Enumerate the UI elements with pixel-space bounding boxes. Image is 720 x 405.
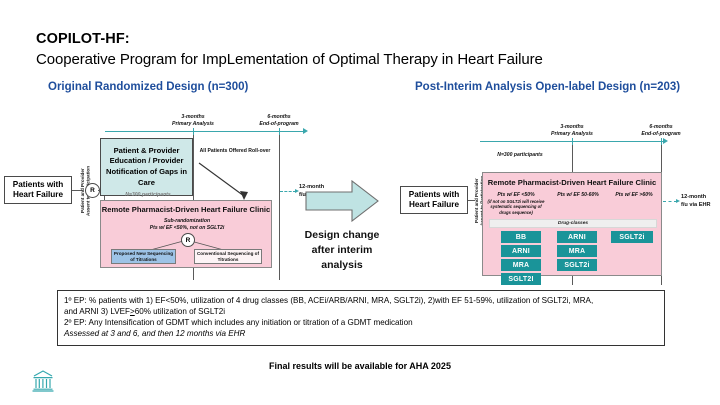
left-timeline-tick-6mo xyxy=(279,128,280,135)
left-randomization-node-label: R xyxy=(90,187,95,194)
right-drug-classes-bar: Drug-classes xyxy=(489,219,657,228)
footer-note-text: Final results will be available for AHA … xyxy=(269,361,451,371)
endpoint-primary-line2: and ARNI 3) LVEF>60% utilization of SGLT… xyxy=(64,306,658,317)
right-drug-pill-mra-1: MRA xyxy=(501,259,541,271)
right-drug-pill-mra-1-label: MRA xyxy=(513,262,530,269)
page-subtitle: Cooperative Program for ImpLementation o… xyxy=(36,51,543,68)
left-education-box: Patient & Provider Education / Provider … xyxy=(100,138,193,196)
right-followup-dashline xyxy=(663,201,677,202)
right-column-1-label-text: Pts w/ EF <50% xyxy=(497,192,534,198)
right-drug-pill-mra-2: MRA xyxy=(557,245,597,257)
design-change-line2: after interim xyxy=(312,244,373,256)
left-followup-dashline xyxy=(280,191,296,192)
right-clinic-box: Remote Pharmacist-Driven Heart Failure C… xyxy=(482,172,662,276)
left-arm-new-box: Proposed New Sequencing of Titrations xyxy=(111,249,176,264)
right-drug-pill-sglt2i-3-label: SGLT2i xyxy=(619,234,644,241)
right-timeline-tick-6mo xyxy=(661,138,662,145)
right-clinic-header: Remote Pharmacist-Driven Heart Failure C… xyxy=(483,178,661,187)
endpoints-box: 1º EP: % patients with 1) EF<50%, utiliz… xyxy=(57,290,665,346)
right-participants-note: N=300 participants xyxy=(470,152,570,159)
left-timeline-label-6mo-line1: 6-months xyxy=(249,114,309,121)
right-drug-pill-arni-1: ARNI xyxy=(501,245,541,257)
right-column-3-label-text: Pts w/ EF >60% xyxy=(615,192,652,198)
right-drug-pill-arni-2: ARNI xyxy=(557,231,597,243)
left-clinic-box: Remote Pharmacist-Driven Heart Failure C… xyxy=(100,200,272,268)
right-drug-pill-arni-1-label: ARNI xyxy=(512,248,530,255)
left-timeline-axis xyxy=(105,131,305,132)
right-column-2-label: Pts w/ EF 50-60% xyxy=(549,192,607,199)
left-arm-conventional-box: Conventional Sequencing of Titrations xyxy=(194,249,262,264)
design-change-line1: Design change xyxy=(305,229,380,241)
endpoint-secondary-line: 2º EP: Any Intensification of GDMT which… xyxy=(64,317,658,328)
design-change-line3: analysis xyxy=(321,259,362,271)
left-tl-6mo-sub: End-of-program xyxy=(259,121,298,127)
right-participants-note-text: N=300 participants xyxy=(497,152,542,158)
right-column-2-label-text: Pts w/ EF 50-60% xyxy=(557,192,599,198)
left-clinic-header-text: Remote Pharmacist-Driven Heart Failure C… xyxy=(102,205,270,214)
left-subrand-line2-text: Pts w/ EF <50%, not on SGLT2i xyxy=(150,225,224,231)
right-column-1-note-text: (if not on SGLT2i will receive systemati… xyxy=(488,199,545,215)
left-tl-6mo-title: 6-months xyxy=(267,114,290,120)
right-drug-pill-bb-label: BB xyxy=(516,234,527,241)
right-entry-box-label: Patients with Heart Failure xyxy=(401,190,467,211)
left-subrand-line1-text: Sub-randomization xyxy=(164,218,210,224)
right-followup-line1: 12-month xyxy=(681,194,706,200)
left-timeline-label-6mo-line2: End-of-program xyxy=(246,121,312,128)
right-timeline-arrowhead xyxy=(663,138,668,144)
left-rollover-note-text: All Patients Offered Roll-over xyxy=(200,148,271,154)
right-timeline-label-3mo-line1: 3-months xyxy=(542,124,602,131)
endpoint-primary-line2b: 60% utilization of SGLT2i xyxy=(135,307,225,316)
right-drug-pill-sglt2i-1-label: SGLT2I xyxy=(508,276,533,283)
right-timeline-label-6mo-line1: 6-months xyxy=(631,124,691,131)
left-entry-box: Patients with Heart Failure xyxy=(4,176,72,204)
left-clinic-header: Remote Pharmacist-Driven Heart Failure C… xyxy=(101,205,271,214)
right-drug-classes-bar-text: Drug-classes xyxy=(558,221,588,226)
design-change-arrow-icon xyxy=(305,180,379,222)
right-tl-6mo-sub: End-of-program xyxy=(641,131,680,137)
right-drug-pill-arni-2-label: ARNI xyxy=(568,234,586,241)
left-participants-note: N=300 participants xyxy=(108,192,188,199)
right-column-1-note: (if not on SGLT2i will receive systemati… xyxy=(485,199,547,215)
design-change-caption: Design change after interim analysis xyxy=(296,228,388,274)
right-drug-pill-sglt2i-1: SGLT2I xyxy=(501,273,541,285)
left-tl-3mo-sub: Primary Analysis xyxy=(172,121,214,127)
left-participants-note-text: N=300 participants xyxy=(125,192,170,198)
left-timeline-label-3mo-line1: 3-months xyxy=(163,114,223,121)
right-column-3-label: Pts w/ EF >60% xyxy=(607,192,661,199)
left-subrandomization-node: R xyxy=(181,233,195,247)
slide-root: COPILOT-HF: Cooperative Program for ImpL… xyxy=(0,0,720,405)
right-timeline-label-6mo-line2: End-of-program xyxy=(628,131,694,138)
right-tl-6mo-title: 6-months xyxy=(649,124,672,130)
endpoint-primary-text: EP: % patients with 1) EF<50%, utilizati… xyxy=(71,296,593,305)
right-drug-pill-sglt2i-2: SGLT2i xyxy=(557,259,597,271)
right-timeline-label-3mo-line2: Primary Analysis xyxy=(539,131,605,138)
left-timeline-label-3mo-line2: Primary Analysis xyxy=(160,121,226,128)
left-entry-box-label: Patients with Heart Failure xyxy=(5,180,71,201)
right-tl-3mo-title: 3-months xyxy=(560,124,583,130)
left-phase-line-6mo xyxy=(279,135,280,280)
endpoint-assessment-line: Assessed at 3 and 6, and then 12 months … xyxy=(64,328,658,339)
left-subrand-line2: Pts w/ EF <50%, not on SGLT2i xyxy=(101,225,273,232)
right-followup-arrowhead xyxy=(676,199,680,203)
rotunda-logo-icon xyxy=(30,368,56,394)
right-followup-line2: f/u via EHR xyxy=(681,202,711,208)
right-drug-pill-mra-2-label: MRA xyxy=(569,248,586,255)
left-subrandomization-node-label: R xyxy=(186,237,191,244)
right-tl-3mo-sub: Primary Analysis xyxy=(551,131,593,137)
left-rollover-arrow-icon xyxy=(196,160,256,205)
right-drug-pill-sglt2i-2-label: SGLT2i xyxy=(564,262,589,269)
endpoint-primary-line1: 1º EP: % patients with 1) EF<50%, utiliz… xyxy=(64,295,658,306)
left-timeline-arrowhead xyxy=(303,128,308,134)
left-arm-new-label: Proposed New Sequencing of Titrations xyxy=(112,251,175,263)
left-subrand-line1: Sub-randomization xyxy=(101,218,273,225)
left-section-heading: Original Randomized Design (n=300) xyxy=(48,81,248,93)
page-title: COPILOT-HF: xyxy=(36,31,130,47)
right-drug-pill-bb: BB xyxy=(501,231,541,243)
endpoint-assessment-text: Assessed at 3 and 6, and then 12 months … xyxy=(64,329,245,338)
right-column-1-label: Pts w/ EF <50% xyxy=(487,192,545,199)
endpoint-primary-line2a: and ARNI 3) LVEF xyxy=(64,307,130,316)
right-followup-label: 12-month f/u via EHR xyxy=(681,194,720,209)
right-entry-box: Patients with Heart Failure xyxy=(400,186,468,214)
left-education-box-label: Patient & Provider Education / Provider … xyxy=(103,146,190,189)
right-drug-pill-sglt2i-3: SGLT2i xyxy=(611,231,653,243)
left-arm-conventional-label: Conventional Sequencing of Titrations xyxy=(195,251,261,263)
endpoint-secondary-text: 2º EP: Any Intensification of GDMT which… xyxy=(64,318,413,327)
right-timeline-tick-3mo xyxy=(572,138,573,145)
left-rollover-note: All Patients Offered Roll-over xyxy=(196,148,274,155)
right-section-heading: Post-Interim Analysis Open-label Design … xyxy=(415,81,680,93)
left-tl-3mo-title: 3-months xyxy=(181,114,204,120)
right-clinic-header-text: Remote Pharmacist-Driven Heart Failure C… xyxy=(488,178,656,187)
left-timeline-tick-3mo xyxy=(193,128,194,135)
footer-note: Final results will be available for AHA … xyxy=(0,361,720,371)
